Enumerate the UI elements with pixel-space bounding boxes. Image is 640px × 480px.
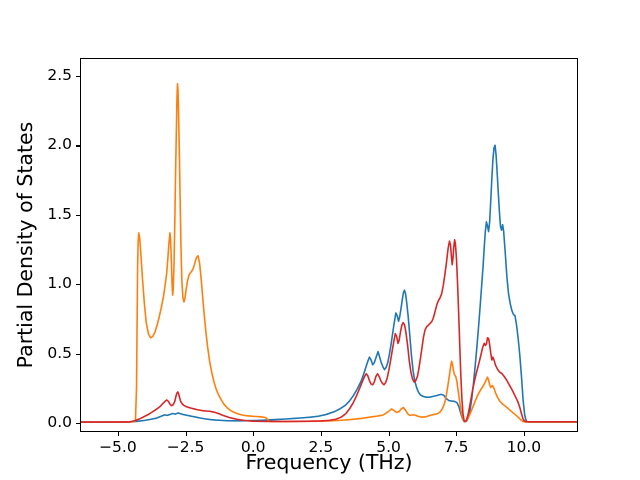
x-tick-label: 0.0 (241, 440, 266, 456)
y-tick-label: 1.0 (47, 276, 72, 292)
y-tick-label: 2.0 (47, 137, 72, 153)
x-tick-label: 7.5 (444, 440, 469, 456)
density-of-states-curves (81, 59, 577, 431)
x-tickmark (186, 432, 187, 436)
x-tickmark (321, 432, 322, 436)
y-tick-label: 0.0 (47, 415, 72, 431)
y-axis-label: Partial Density of States (12, 58, 38, 432)
figure-canvas: Partial Density of States Frequency (THz… (0, 0, 640, 480)
x-tickmark (524, 432, 525, 436)
x-tick-label: −5.0 (99, 440, 137, 456)
y-tick-label: 0.5 (47, 346, 72, 362)
y-tick-label: 1.5 (47, 207, 72, 223)
curve-series-blue (81, 145, 577, 422)
x-tickmark (118, 432, 119, 436)
plot-area (80, 58, 578, 432)
y-tick-label: 2.5 (47, 68, 72, 84)
curve-series-orange (81, 84, 577, 422)
x-tick-label: −2.5 (167, 440, 205, 456)
x-tick-label: 10.0 (507, 440, 542, 456)
x-tick-label: 2.5 (309, 440, 334, 456)
x-tickmark (253, 432, 254, 436)
x-tickmark (389, 432, 390, 436)
x-tickmark (456, 432, 457, 436)
x-tick-label: 5.0 (376, 440, 401, 456)
